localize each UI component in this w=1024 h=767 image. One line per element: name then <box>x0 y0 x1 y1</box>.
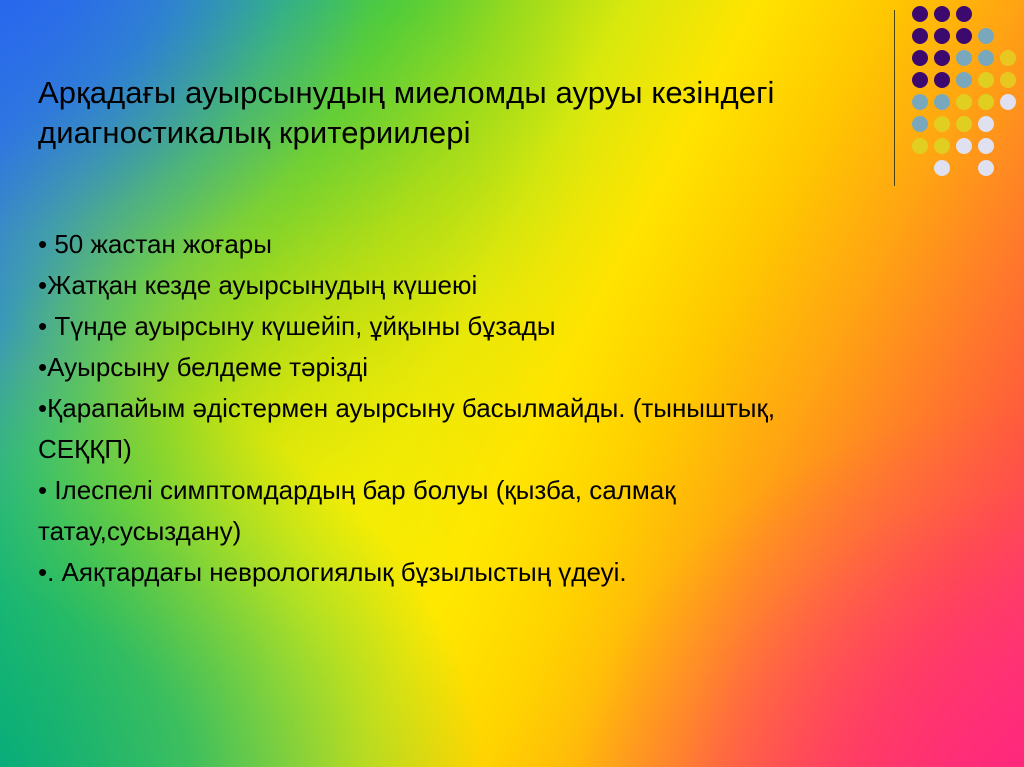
decorative-dot <box>934 6 950 22</box>
decorative-dot <box>934 116 950 132</box>
decorative-dot <box>978 72 994 88</box>
bullet-line: •Ауырсыну белдеме тәрізді <box>38 347 978 388</box>
decorative-dot <box>956 94 972 110</box>
decorative-dot <box>934 28 950 44</box>
bullet-line: • Түнде ауырсыну күшейіп, ұйқыны бұзады <box>38 306 978 347</box>
bullet-line: •Қарапайым әдістермен ауырсыну басылмайд… <box>38 388 978 429</box>
decorative-dot <box>934 94 950 110</box>
bullet-line: • Ілеспелі симптомдардың бар болуы (қызб… <box>38 470 978 511</box>
decorative-dot <box>912 6 928 22</box>
bullet-line: • 50 жастан жоғары <box>38 224 978 265</box>
decorative-dot <box>978 50 994 66</box>
decorative-dot <box>912 28 928 44</box>
decorative-dot <box>934 160 950 176</box>
bullet-line: •. Аяқтардағы неврологиялық бұзылыстың ү… <box>38 552 978 593</box>
decorative-dot <box>956 50 972 66</box>
decorative-dot <box>978 116 994 132</box>
decorative-dot <box>978 160 994 176</box>
decorative-dot <box>978 138 994 154</box>
decorative-dot <box>956 72 972 88</box>
decorative-dot <box>978 28 994 44</box>
decorative-dot <box>1000 72 1016 88</box>
bullet-line: СЕҚҚП) <box>38 429 978 470</box>
decorative-dot <box>956 138 972 154</box>
decorative-dot <box>1000 94 1016 110</box>
decorative-dot <box>934 138 950 154</box>
bullet-line: •Жатқан кезде ауырсынудың күшеюі <box>38 265 978 306</box>
slide-bullet-list: • 50 жастан жоғары•Жатқан кезде ауырсыну… <box>38 224 978 593</box>
decorative-dot <box>956 28 972 44</box>
slide-title: Арқадағы ауырсынудың миеломды ауруы кезі… <box>38 73 918 153</box>
decorative-dot <box>1000 50 1016 66</box>
decorative-dot-grid <box>912 6 1024 186</box>
bullet-line: татау,сусыздану) <box>38 511 978 552</box>
decorative-dot <box>978 94 994 110</box>
presentation-slide: Арқадағы ауырсынудың миеломды ауруы кезі… <box>0 0 1024 767</box>
decorative-dot <box>912 50 928 66</box>
decorative-dot <box>934 50 950 66</box>
decorative-dot <box>956 116 972 132</box>
decorative-dot <box>956 6 972 22</box>
decorative-dot <box>934 72 950 88</box>
